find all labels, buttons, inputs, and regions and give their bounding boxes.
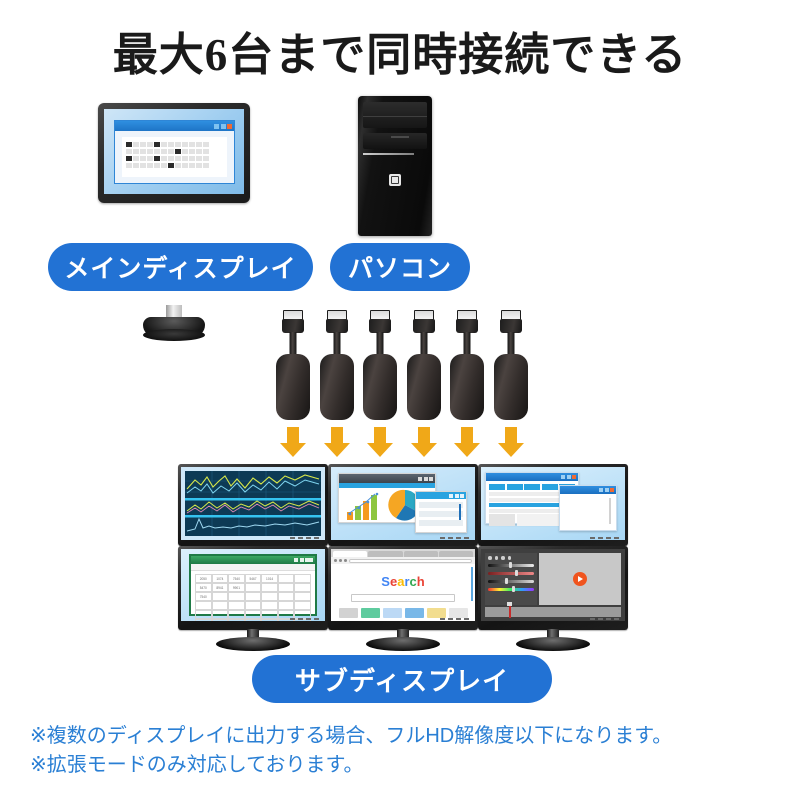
close-icon (610, 488, 614, 492)
hdmi-dongle-icon (450, 310, 484, 420)
spreadsheet-surface: 2050 1074 7540 5467 1014 (181, 549, 325, 621)
hdmi-dongle-icon (407, 310, 441, 420)
monitor-bezel: Search (328, 546, 478, 630)
label-main-display: メインディスプレイ (48, 243, 313, 291)
sub-monitor-4: 2050 1074 7540 5467 1014 (178, 546, 328, 651)
sub-monitor-2 (328, 464, 478, 546)
sheet-cell (245, 592, 262, 601)
table-window-secondary (559, 485, 617, 531)
color-slider[interactable] (488, 572, 534, 575)
tower-body (358, 96, 432, 236)
forward-icon[interactable] (339, 559, 342, 562)
sub-monitor-5: Search (328, 546, 478, 651)
grid-row (126, 156, 223, 161)
wall-row-bottom: 2050 1074 7540 5467 1014 (178, 546, 630, 651)
sheet-cell (294, 574, 311, 583)
sheet-cell: 7540 (195, 592, 212, 601)
browser-address-bar[interactable] (331, 557, 475, 564)
tool-panel (485, 553, 537, 605)
arrow-down-icon (363, 425, 397, 459)
monitor-base (366, 637, 440, 651)
tile[interactable] (339, 608, 358, 618)
window-titlebar (339, 474, 435, 483)
monitor-screen (104, 109, 244, 194)
stock-chart-svg (185, 471, 321, 536)
monitor-base (216, 637, 290, 651)
brand-logo (590, 618, 619, 620)
arrow-down-icon (320, 425, 354, 459)
search-logo: Search (331, 574, 475, 589)
main-display-monitor (98, 103, 250, 203)
tower-trim-line (363, 153, 414, 155)
maximize-icon (424, 477, 428, 481)
spreadsheet-screen: 2050 1074 7540 5467 1014 (181, 549, 325, 621)
brand-logo (290, 618, 319, 620)
sheet-cell: 1074 (212, 574, 229, 583)
tool-icon (488, 556, 492, 560)
sheet-cell: 8941 (212, 583, 229, 592)
maximize-icon (605, 488, 609, 492)
arrow-down-icon (494, 425, 528, 459)
monitor-base (516, 637, 590, 651)
sheet-row (195, 601, 311, 610)
hdmi-dongle-icon (276, 310, 310, 420)
legend-window (415, 491, 467, 533)
video-preview[interactable] (539, 553, 621, 605)
browser-tabstrip[interactable] (331, 549, 475, 557)
dongle-row (276, 310, 528, 420)
label-pc: パソコン (330, 243, 470, 291)
play-icon[interactable] (573, 572, 587, 586)
sheet-cell: 5470 (195, 583, 212, 592)
browser-tab[interactable] (439, 551, 473, 557)
brand-logo (440, 618, 469, 620)
page-title: 最大6台まで同時接続できる (0, 18, 800, 83)
close-icon (572, 475, 576, 479)
table-surface (481, 467, 625, 540)
sheet-cell (212, 592, 229, 601)
monitor-bezel (478, 546, 628, 630)
formula-bar (191, 564, 315, 571)
footnote-2: ※拡張モードのみ対応しております。 (30, 751, 790, 780)
window-titlebar (191, 556, 315, 564)
window-titlebar (115, 121, 234, 131)
window-titlebar (486, 473, 578, 481)
browser-tab[interactable] (404, 551, 438, 557)
monitor-bezel (328, 464, 478, 546)
minimize-icon (561, 475, 565, 479)
stock-chart-screen (181, 467, 325, 540)
tile[interactable] (361, 608, 380, 618)
sub-monitor-3 (478, 464, 628, 546)
back-icon[interactable] (334, 559, 337, 562)
minimize-icon (294, 558, 298, 562)
arrow-row (276, 425, 528, 459)
sheet-cell: 2050 (195, 574, 212, 583)
brand-logo (440, 537, 469, 539)
close-icon (429, 477, 433, 481)
footnote-1: ※複数のディスプレイに出力する場合、フルHD解像度以下になります。 (30, 722, 790, 751)
sheet-cell (278, 574, 295, 583)
scrollbar[interactable] (471, 567, 474, 601)
window-titlebar (416, 492, 466, 499)
power-button-icon (389, 174, 401, 186)
sheet-cell (261, 592, 278, 601)
charts-window-screen (331, 467, 475, 540)
browser-tab-active[interactable] (333, 551, 367, 557)
monitor-bezel (478, 464, 628, 546)
sheet-cell (294, 592, 311, 601)
drive-slot (391, 136, 409, 138)
brand-logo (290, 537, 319, 539)
minimize-icon (418, 477, 422, 481)
sheet-grid: 2050 1074 7540 5467 1014 (195, 574, 311, 610)
tool-icon (501, 556, 505, 560)
monitor-bezel (98, 103, 250, 203)
close-icon (305, 558, 313, 562)
maximize-icon (567, 475, 571, 479)
arrow-down-icon (276, 425, 310, 459)
hue-slider[interactable] (488, 588, 534, 591)
charts-surface (331, 467, 475, 540)
optical-drive-bay (363, 133, 427, 149)
label-sub-display: サブディスプレイ (252, 655, 552, 703)
wall-row-top (178, 464, 630, 546)
sheet-cell: 9901 (228, 583, 245, 592)
reload-icon[interactable] (344, 559, 347, 562)
tile[interactable] (405, 608, 424, 618)
desktop-tower-icon (358, 96, 432, 236)
tile[interactable] (383, 608, 402, 618)
sheet-cell (278, 583, 295, 592)
sheet-cell (228, 592, 245, 601)
spreadsheet-window: 2050 1074 7540 5467 1014 (189, 554, 317, 616)
hdmi-dongle-icon (363, 310, 397, 420)
grid-row (126, 142, 223, 147)
tile[interactable] (427, 608, 446, 618)
sheet-cell (245, 583, 262, 592)
tool-buttons[interactable] (488, 556, 534, 560)
stock-chart-plot (185, 471, 321, 536)
window-content-grid (122, 137, 227, 177)
sheet-row: 5470 8941 9901 (195, 583, 311, 592)
brand-logo (590, 537, 619, 539)
stock-chart-surface (181, 467, 325, 540)
tool-icon (508, 556, 512, 560)
brightness-slider[interactable] (488, 564, 534, 567)
sheet-cell (261, 583, 278, 592)
sheet-row: 2050 1074 7540 5467 1014 (195, 574, 311, 583)
sub-display-wall: 2050 1074 7540 5467 1014 (178, 464, 630, 656)
sheet-cell (294, 583, 311, 592)
footnotes: ※複数のディスプレイに出力する場合、フルHD解像度以下になります。 ※拡張モード… (30, 722, 790, 780)
window-titlebar (560, 486, 616, 494)
monitor-bezel: 2050 1074 7540 5467 1014 (178, 546, 328, 630)
browser-surface: Search (331, 549, 475, 621)
sheet-row: 7540 (195, 592, 311, 601)
sub-monitor-1 (178, 464, 328, 546)
minimize-icon (214, 124, 219, 129)
grid-row (126, 149, 223, 154)
main-window (114, 120, 235, 184)
video-editor-surface (481, 549, 625, 621)
minimize-icon (599, 488, 603, 492)
arrow-down-icon (450, 425, 484, 459)
search-input[interactable] (351, 594, 455, 602)
playhead[interactable] (509, 604, 511, 618)
timeline[interactable] (485, 607, 621, 617)
tile[interactable] (449, 608, 468, 618)
browser-search-screen: Search (331, 549, 475, 621)
contrast-slider[interactable] (488, 580, 534, 583)
tower-top-panel (363, 102, 427, 128)
hdmi-dongle-icon (494, 310, 528, 420)
table-window-screen (481, 467, 625, 540)
sheet-cell: 7540 (228, 574, 245, 583)
video-editor-screen (481, 549, 625, 621)
maximize-icon (300, 558, 304, 562)
sheet-cell: 5467 (245, 574, 262, 583)
close-icon (227, 124, 232, 129)
tool-icon (495, 556, 499, 560)
monitor-bezel (178, 464, 328, 546)
maximize-icon (221, 124, 226, 129)
browser-tab[interactable] (368, 551, 402, 557)
arrow-down-icon (407, 425, 441, 459)
monitor-base (143, 317, 205, 337)
poster-root: 最大6台まで同時接続できる (0, 0, 800, 800)
hdmi-dongle-icon (320, 310, 354, 420)
grid-row (126, 163, 223, 168)
sheet-cell (278, 592, 295, 601)
url-input[interactable] (349, 559, 472, 563)
sheet-cell: 1014 (261, 574, 278, 583)
sub-monitor-6 (478, 546, 628, 651)
